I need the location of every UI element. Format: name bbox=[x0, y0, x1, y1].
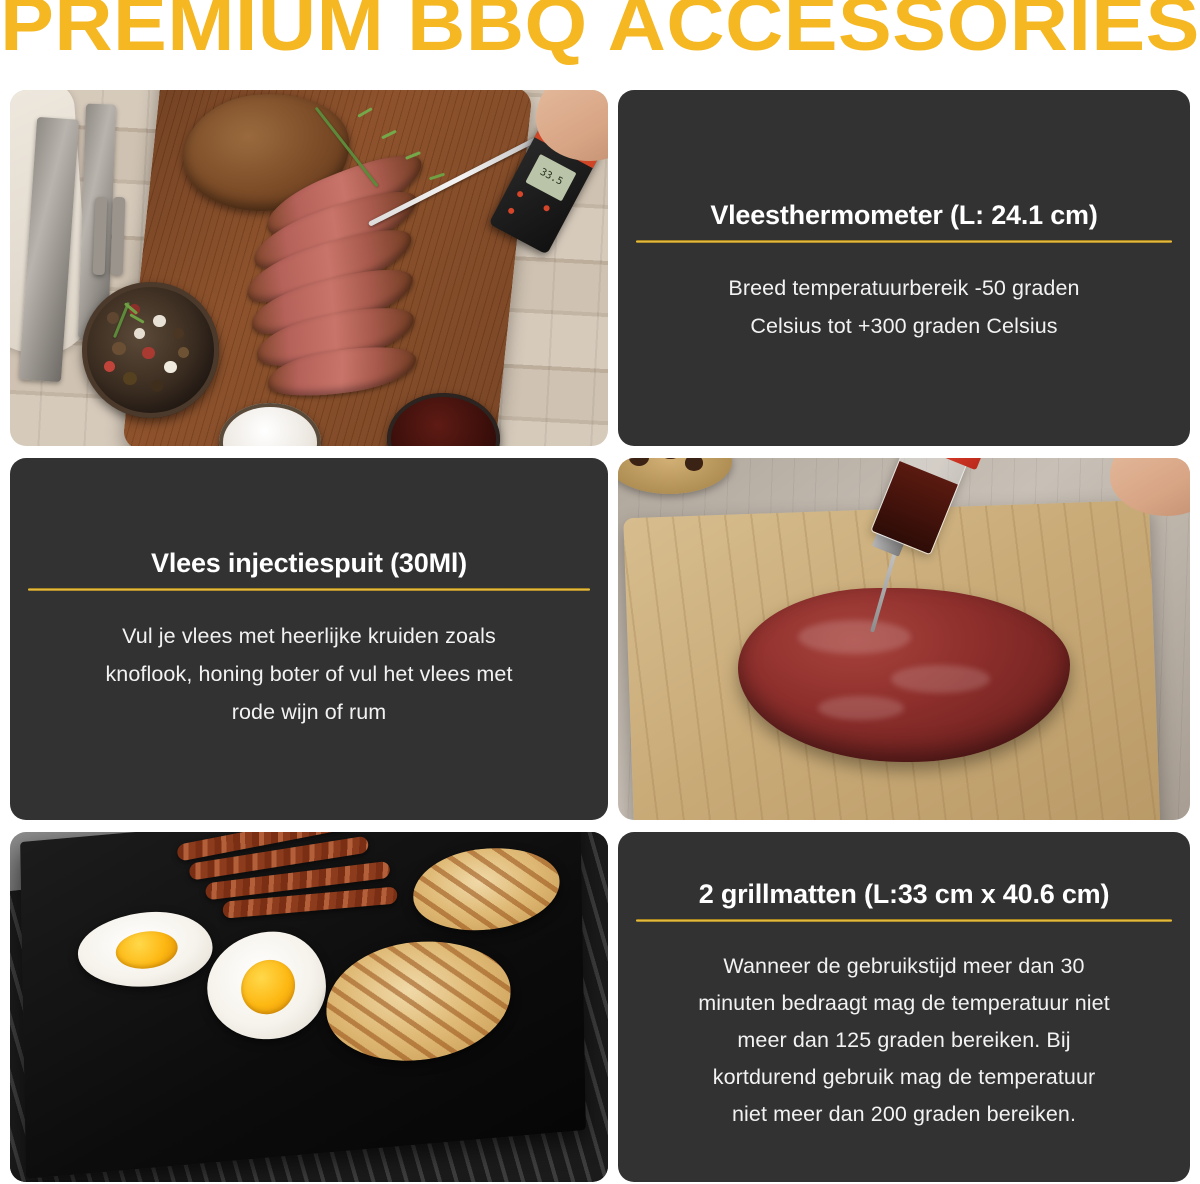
card-body-line: minuten bedraagt mag de temperatuur niet bbox=[646, 985, 1162, 1022]
pancake bbox=[325, 934, 512, 1068]
egg-yolk bbox=[115, 929, 177, 971]
card-body-line: Wanneer de gebruikstijd meer dan 30 bbox=[646, 948, 1162, 985]
card-body-line: niet meer dan 200 graden bereiken. bbox=[646, 1096, 1162, 1133]
fried-egg bbox=[207, 927, 326, 1045]
card-body: Wanneer de gebruikstijd meer dan 30 minu… bbox=[636, 922, 1172, 1133]
feature-grid: Vleesthermometer (L: 24.1 cm) Breed temp… bbox=[10, 90, 1190, 1176]
card-body-line: rode wijn of rum bbox=[38, 693, 580, 731]
card-title: Vlees injectiespuit (30Ml) bbox=[28, 546, 590, 588]
infographic-page: PREMIUM BBQ ACCESSORIES bbox=[0, 0, 1200, 1184]
card-body-line: meer dan 125 graden bereiken. Bij bbox=[646, 1022, 1162, 1059]
side-plate bbox=[618, 458, 732, 494]
card-body-line: knoflook, honing boter of vul het vlees … bbox=[38, 655, 580, 693]
card-body: Vul je vlees met heerlijke kruiden zoals… bbox=[28, 591, 590, 731]
pancake bbox=[413, 842, 560, 936]
photo-steak-board bbox=[10, 90, 608, 446]
card-body-line: kortdurend gebruik mag de temperatuur bbox=[646, 1059, 1162, 1096]
card-body-line: Breed temperatuurbereik -50 graden bbox=[646, 269, 1162, 307]
egg-yolk bbox=[240, 957, 295, 1016]
page-title: PREMIUM BBQ ACCESSORIES bbox=[0, 0, 1200, 66]
peppercorn-bowl bbox=[82, 282, 220, 417]
photo-meat-injector bbox=[618, 458, 1190, 820]
card-body: Breed temperatuurbereik -50 graden Celsi… bbox=[636, 243, 1172, 345]
card-title: Vleesthermometer (L: 24.1 cm) bbox=[636, 198, 1172, 240]
thermometer-display bbox=[526, 154, 577, 202]
fork-tine bbox=[110, 197, 125, 276]
header-banner: PREMIUM BBQ ACCESSORIES bbox=[0, 0, 1200, 72]
card-injector: Vlees injectiespuit (30Ml) Vul je vlees … bbox=[10, 458, 608, 820]
fried-egg bbox=[77, 906, 213, 992]
card-title: 2 grillmatten (L:33 cm x 40.6 cm) bbox=[636, 877, 1172, 919]
card-grill-mats: 2 grillmatten (L:33 cm x 40.6 cm) Wannee… bbox=[618, 832, 1190, 1182]
card-body-line: Vul je vlees met heerlijke kruiden zoals bbox=[38, 617, 580, 655]
fork-tine bbox=[92, 197, 107, 276]
card-body-line: Celsius tot +300 graden Celsius bbox=[646, 307, 1162, 345]
photo-grill-mat bbox=[10, 832, 608, 1182]
card-thermometer: Vleesthermometer (L: 24.1 cm) Breed temp… bbox=[618, 90, 1190, 446]
grill-mat bbox=[20, 832, 586, 1179]
